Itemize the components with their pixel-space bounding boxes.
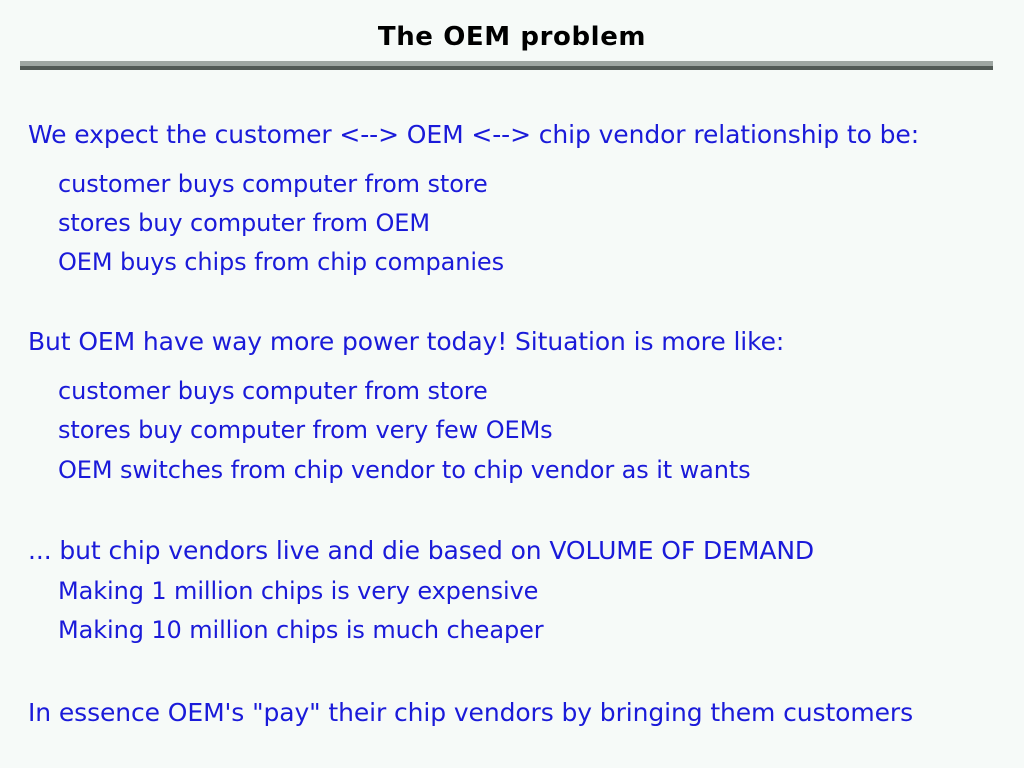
- page-title: The OEM problem: [0, 22, 1024, 52]
- divider-shadow: [20, 66, 993, 70]
- body-subline: Making 1 million chips is very expensive: [58, 576, 538, 606]
- body-subline: stores buy computer from OEM: [58, 208, 430, 238]
- body-subline: Making 10 million chips is much cheaper: [58, 615, 544, 645]
- body-subline: OEM buys chips from chip companies: [58, 247, 504, 277]
- body-line: But OEM have way more power today! Situa…: [28, 327, 784, 357]
- body-subline: OEM switches from chip vendor to chip ve…: [58, 455, 751, 485]
- body-line: We expect the customer <--> OEM <--> chi…: [28, 120, 919, 150]
- body-line: ... but chip vendors live and die based …: [28, 536, 814, 566]
- body-subline: customer buys computer from store: [58, 169, 488, 199]
- body-subline: stores buy computer from very few OEMs: [58, 415, 553, 445]
- body-subline: customer buys computer from store: [58, 376, 488, 406]
- body-line: In essence OEM's "pay" their chip vendor…: [28, 698, 913, 728]
- title-divider: [20, 61, 993, 70]
- slide-canvas: The OEM problem We expect the customer <…: [0, 0, 1024, 768]
